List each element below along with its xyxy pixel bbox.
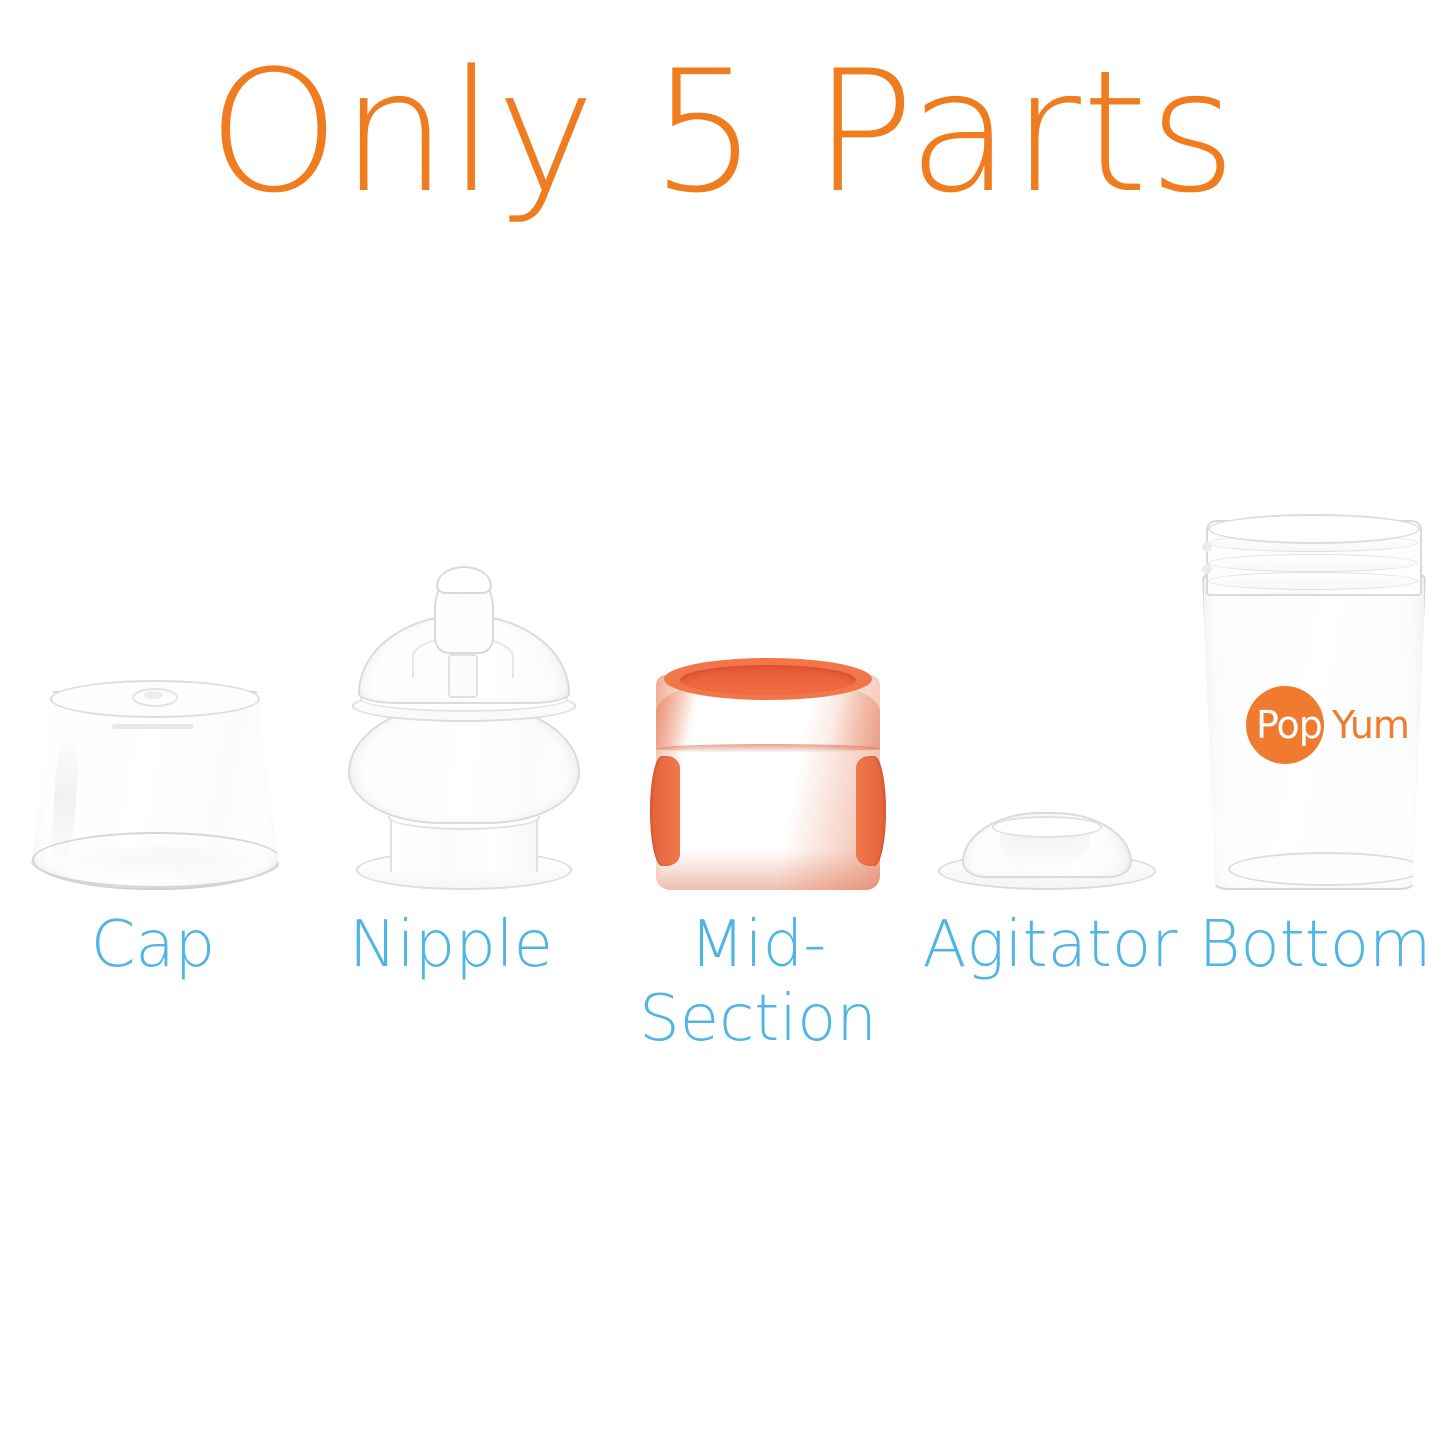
bottle-bottom-icon: Pop Yum [1202, 574, 1426, 890]
bottom-base-rim [1228, 852, 1424, 886]
part-bottom: Pop Yum [1192, 520, 1432, 890]
popyum-logo: Pop Yum [1244, 686, 1414, 764]
midsection-grip-left [650, 756, 680, 866]
cap-top-detail-inner [144, 691, 163, 699]
bottle-cap-icon [28, 691, 282, 890]
part-midsection [648, 658, 888, 890]
label-midsection: Mid- Section [608, 908, 908, 1056]
agitator-top-rim [992, 816, 1102, 838]
part-agitator [938, 812, 1152, 890]
label-cap: Cap [8, 908, 298, 982]
part-nipple [336, 570, 586, 890]
label-agitator: Agitator [900, 908, 1200, 982]
product-parts-diagram: Only 5 Parts [0, 0, 1445, 1445]
midsection-inner-rim [680, 665, 856, 695]
midsection-grip-right [856, 756, 886, 866]
bottom-thread-nub-2 [1202, 564, 1212, 574]
midsection-bottom-shade [656, 850, 880, 890]
bottom-mouth-rim [1208, 514, 1420, 544]
label-nipple: Nipple [306, 908, 596, 982]
bottom-thread-2 [1208, 554, 1418, 572]
part-cap [28, 680, 278, 890]
midsection-seam [658, 744, 878, 753]
parts-row: Pop Yum [0, 470, 1445, 890]
label-bottom: Bottom [1190, 908, 1440, 982]
bottom-thread-nub-1 [1202, 542, 1212, 552]
cap-bottom-rim [32, 832, 282, 888]
label-midsection-line1: Mid- [608, 908, 908, 982]
part-labels: Cap Nipple Mid- Section Agitator Bottom [0, 908, 1445, 1058]
bottom-thread-3 [1208, 572, 1418, 590]
page-title: Only 5 Parts [0, 48, 1445, 216]
logo-word-pop: Pop [1256, 706, 1322, 744]
cap-notch [112, 724, 194, 729]
nipple-valve [448, 654, 478, 698]
logo-word-yum: Yum [1332, 706, 1409, 744]
label-midsection-line2: Section [608, 982, 908, 1056]
nipple-tip [436, 566, 492, 594]
